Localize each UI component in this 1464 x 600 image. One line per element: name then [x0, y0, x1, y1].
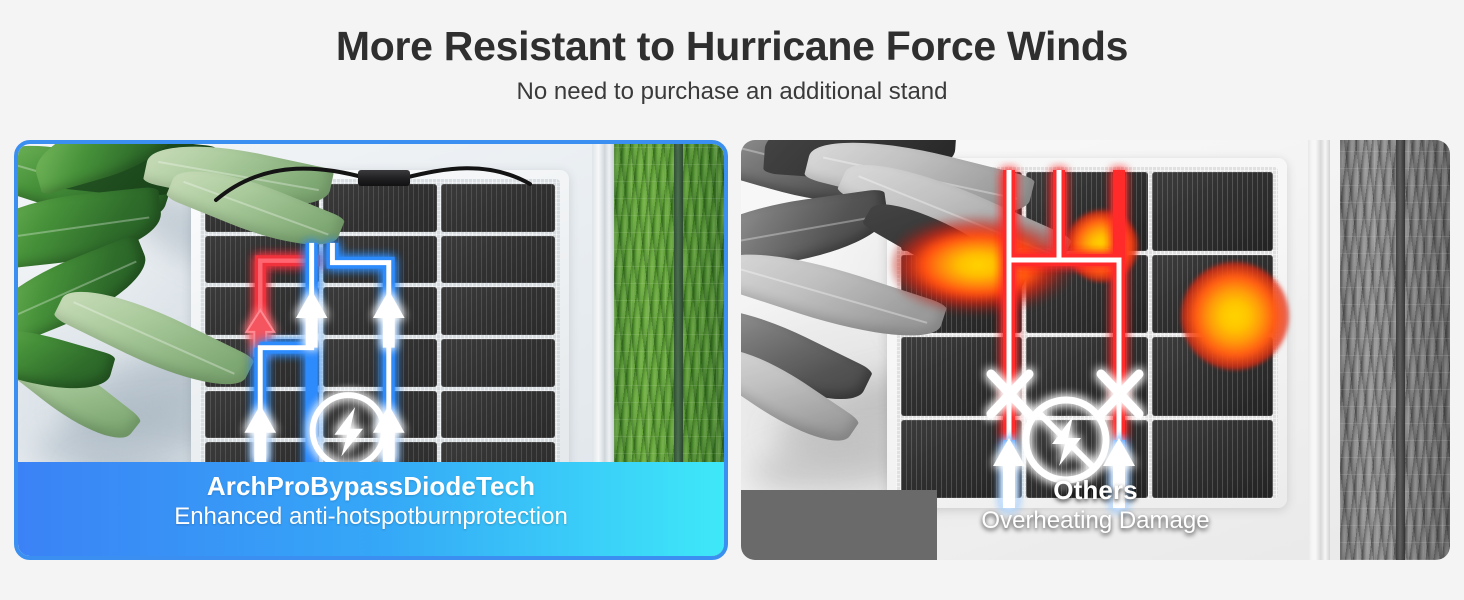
solar-cell — [1152, 172, 1273, 251]
page-subtitle: No need to purchase an additional stand — [0, 78, 1464, 107]
solar-cell — [441, 287, 555, 335]
solar-cell — [205, 391, 319, 439]
product-caption-title: ArchProBypassDiodeTech — [18, 472, 724, 502]
solar-cell — [323, 287, 437, 335]
solar-cell — [441, 184, 555, 232]
solar-cell — [205, 287, 319, 335]
heading-block: More Resistant to Hurricane Force Winds … — [0, 24, 1464, 107]
solar-cell — [323, 391, 437, 439]
competitor-panel: Others Overheating Damage — [741, 140, 1450, 560]
product-caption: ArchProBypassDiodeTech Enhanced anti-hot… — [18, 462, 724, 556]
solar-cell — [441, 339, 555, 387]
competitor-panel-scene: Others Overheating Damage — [741, 140, 1450, 560]
solar-cell — [323, 339, 437, 387]
junction-box-icon — [358, 170, 410, 186]
solar-cell — [1026, 255, 1147, 334]
competitor-caption: Others Overheating Damage — [741, 466, 1450, 560]
solar-cell — [1152, 255, 1273, 334]
solar-cell — [1026, 337, 1147, 416]
competitor-caption-subtitle: Overheating Damage — [741, 507, 1450, 536]
competitor-caption-title: Others — [741, 476, 1450, 506]
product-panel-scene: ArchProBypassDiodeTech Enhanced anti-hot… — [18, 144, 724, 556]
page-title: More Resistant to Hurricane Force Winds — [0, 24, 1464, 70]
product-caption-subtitle: Enhanced anti-hotspotburnprotection — [18, 503, 724, 532]
solar-cell — [901, 337, 1022, 416]
solar-cell — [441, 391, 555, 439]
solar-cell — [323, 236, 437, 284]
solar-cell — [441, 236, 555, 284]
product-panel: ArchProBypassDiodeTech Enhanced anti-hot… — [14, 140, 728, 560]
comparison-panels: ArchProBypassDiodeTech Enhanced anti-hot… — [14, 140, 1450, 560]
solar-cell — [1152, 337, 1273, 416]
promo-banner: More Resistant to Hurricane Force Winds … — [0, 0, 1464, 600]
